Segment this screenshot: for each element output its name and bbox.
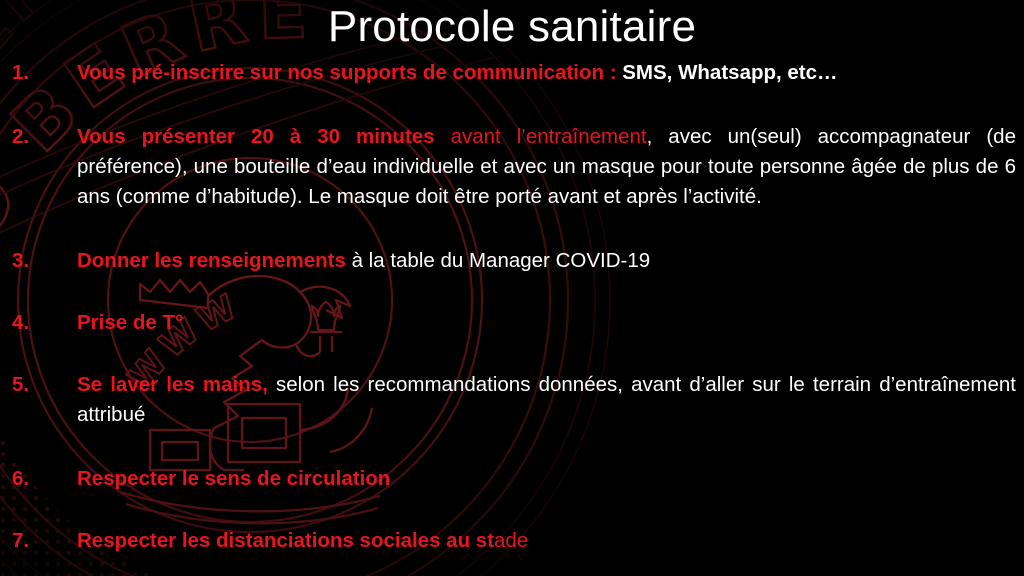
run-red-bold: Se laver les mains, — [77, 373, 268, 396]
list-item: 7. Respecter les distanciations sociales… — [0, 526, 1024, 576]
list-item: 2. Vous présenter 20 à 30 minutes avant … — [0, 122, 1024, 242]
run-white: à la table du Manager COVID-19 — [346, 249, 650, 272]
list-item-body: Vous pré-inscrire sur nos supports de co… — [77, 58, 1016, 88]
list-item-number: 4. — [12, 308, 58, 338]
list-item-body: Vous présenter 20 à 30 minutes avant l’e… — [77, 122, 1016, 212]
list-item-body: Respecter le sens de circulation — [77, 464, 1016, 494]
list-item: 1. Vous pré-inscrire sur nos supports de… — [0, 58, 1024, 118]
run-red-bold: Prise de T° — [77, 311, 183, 334]
run-red-bold: Vous pré-inscrire sur nos supports de co… — [77, 61, 604, 84]
list-item-number: 5. — [12, 370, 58, 400]
run-red-bold: Respecter le sens de circulation — [77, 467, 390, 490]
list-item-body: Donner les renseignements à la table du … — [77, 246, 1016, 276]
list-item: 5. Se laver les mains, selon les recomma… — [0, 370, 1024, 460]
list-item-number: 7. — [12, 526, 58, 556]
run-separator: : — [604, 61, 622, 84]
protocol-list: 1. Vous pré-inscrire sur nos supports de… — [0, 58, 1024, 576]
list-item: 6. Respecter le sens de circulation — [0, 464, 1024, 524]
list-item-number: 2. — [12, 122, 58, 152]
slide-canvas: DEPUIS 19 CO BERRE WWW — [0, 0, 1024, 576]
list-item-body: Respecter les distanciations sociales au… — [77, 526, 1016, 556]
list-item: 3. Donner les renseignements à la table … — [0, 246, 1024, 306]
list-item-body: Se laver les mains, selon les recommanda… — [77, 370, 1016, 430]
run-red: ade — [494, 529, 528, 552]
list-item-number: 6. — [12, 464, 58, 494]
run-red-bold: Vous présenter 20 à 30 minutes — [77, 125, 451, 148]
list-item-number: 1. — [12, 58, 58, 88]
run-white-bold: SMS, Whatsapp, etc… — [622, 61, 837, 84]
list-item: 4. Prise de T° — [0, 308, 1024, 368]
page-title: Protocole sanitaire — [0, 2, 1024, 51]
list-item-body: Prise de T° — [77, 308, 1016, 338]
run-red: avant l’entraînement — [451, 125, 647, 148]
run-red-bold: Respecter les distanciations sociales au… — [77, 529, 494, 552]
list-item-number: 3. — [12, 246, 58, 276]
run-red-bold: Donner les renseignements — [77, 249, 346, 272]
